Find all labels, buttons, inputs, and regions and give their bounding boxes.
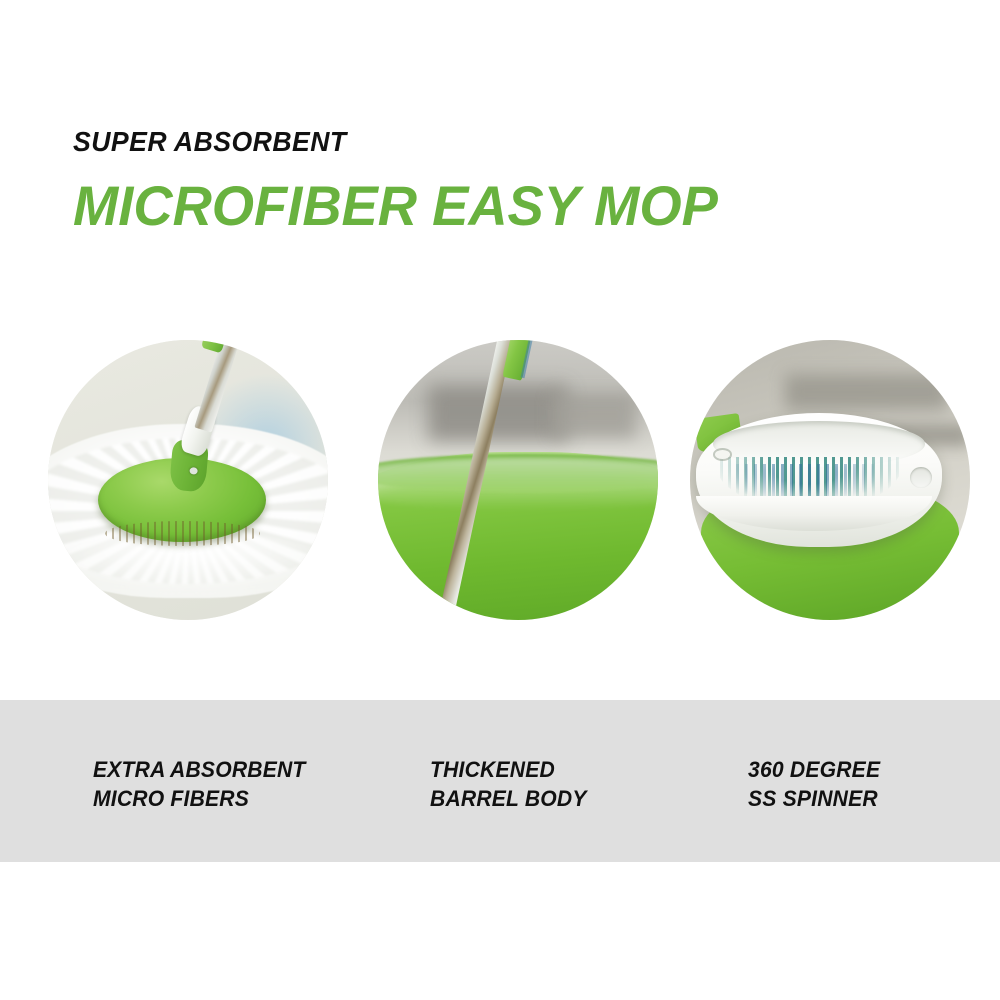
background-blur-shape [785, 374, 947, 410]
white-spinner-basket [696, 413, 942, 547]
header-text-block: SUPER ABSORBENT MICROFIBER EASY MOP [73, 128, 933, 234]
mop-head-scene [48, 340, 328, 620]
feature-label-line2: BARREL BODY [430, 784, 587, 813]
feature-band: EXTRA ABSORBENT MICRO FIBERS THICKENED B… [0, 700, 1000, 862]
page-subhead: SUPER ABSORBENT [73, 128, 890, 156]
bucket-rim-highlight [378, 457, 658, 510]
feature-label-line1: EXTRA ABSORBENT [93, 755, 306, 784]
basket-outer-lip [696, 496, 933, 531]
product-photo-bucket-rim [378, 340, 658, 620]
product-photo-spinner-basket [690, 340, 970, 620]
product-photo-gallery [0, 340, 1000, 620]
feature-360-degree-ss-spinner: 360 DEGREE SS SPINNER [748, 755, 886, 813]
product-photo-mop-head-disc [48, 340, 328, 620]
green-bucket-body [378, 452, 658, 620]
spinner-basket-scene [690, 340, 970, 620]
feature-label-line2: MICRO FIBERS [93, 784, 306, 813]
bucket-rim-scene [378, 340, 658, 620]
page-title: MICROFIBER EASY MOP [73, 178, 907, 234]
feature-extra-absorbent-micro-fibers: EXTRA ABSORBENT MICRO FIBERS [93, 755, 314, 813]
feature-label-line1: THICKENED [430, 755, 587, 784]
feature-thickened-barrel-body: THICKENED BARREL BODY [430, 755, 593, 813]
basket-notch [910, 467, 932, 489]
feature-label-line2: SS SPINNER [748, 784, 880, 813]
background-blur-shape-secondary [552, 393, 636, 438]
feature-label-line1: 360 DEGREE [748, 755, 880, 784]
